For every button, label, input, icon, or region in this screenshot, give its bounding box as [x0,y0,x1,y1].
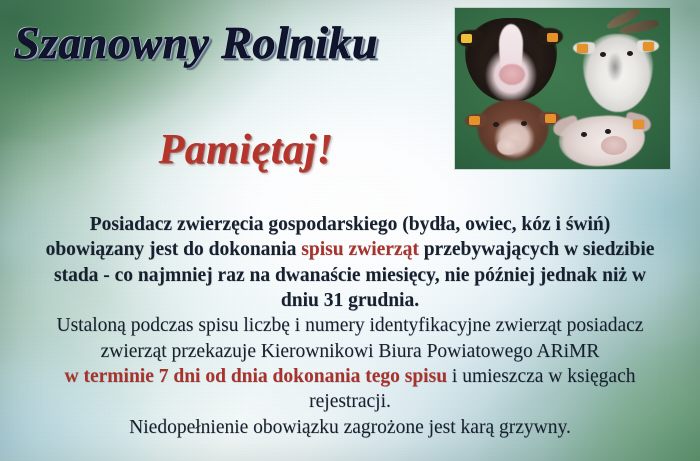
poster-headline: Szanowny Rolniku [14,17,378,69]
body-line-7: w terminie 7 dni od dnia dokonania tego … [0,364,700,389]
body-line-5-segment-1: Ustaloną podczas spisu liczbę i numery i… [57,315,644,336]
body-line-6-segment-1: zwierząt przekazuje Kierownikowi Biura P… [101,341,600,362]
body-line-1-segment-1: Posiadacz zwierzęcia gospodarskiego (byd… [90,214,611,235]
body-line-7-segment-1: w terminie 7 dni od dnia dokonania tego … [65,366,448,387]
poster-subheadline: Pamiętaj! [0,126,700,174]
body-line-6: zwierząt przekazuje Kierownikowi Biura P… [0,339,700,364]
body-line-2-segment-2: spisu zwierząt [301,239,419,260]
body-line-3: stada - co najmniej raz na dwanaście mie… [0,263,700,288]
body-line-2-segment-1: obowiązany jest do dokonania [46,239,302,260]
poster-canvas: Szanowny Rolniku [0,0,700,461]
body-line-2: obowiązany jest do dokonania spisu zwier… [0,237,700,262]
body-line-7-segment-2: i umieszcza w księgach [447,366,635,387]
body-line-5: Ustaloną podczas spisu liczbę i numery i… [0,313,700,338]
body-line-2-segment-3: przebywających w siedzibie [419,239,655,260]
body-line-4: dniu 31 grudnia. [0,288,700,313]
body-line-1: Posiadacz zwierzęcia gospodarskiego (byd… [0,212,700,237]
body-line-9-segment-1: Niedopełnienie obowiązku zagrożone jest … [129,417,571,438]
body-line-3-segment-1: stada - co najmniej raz na dwanaście mie… [54,265,646,286]
body-line-8-segment-1: rejestracji. [309,391,391,412]
body-line-9: Niedopełnienie obowiązku zagrożone jest … [0,415,700,440]
body-line-8: rejestracji. [0,389,700,414]
poster-body-text: Posiadacz zwierzęcia gospodarskiego (byd… [0,212,700,440]
body-line-4-segment-1: dniu 31 grudnia. [281,290,419,311]
